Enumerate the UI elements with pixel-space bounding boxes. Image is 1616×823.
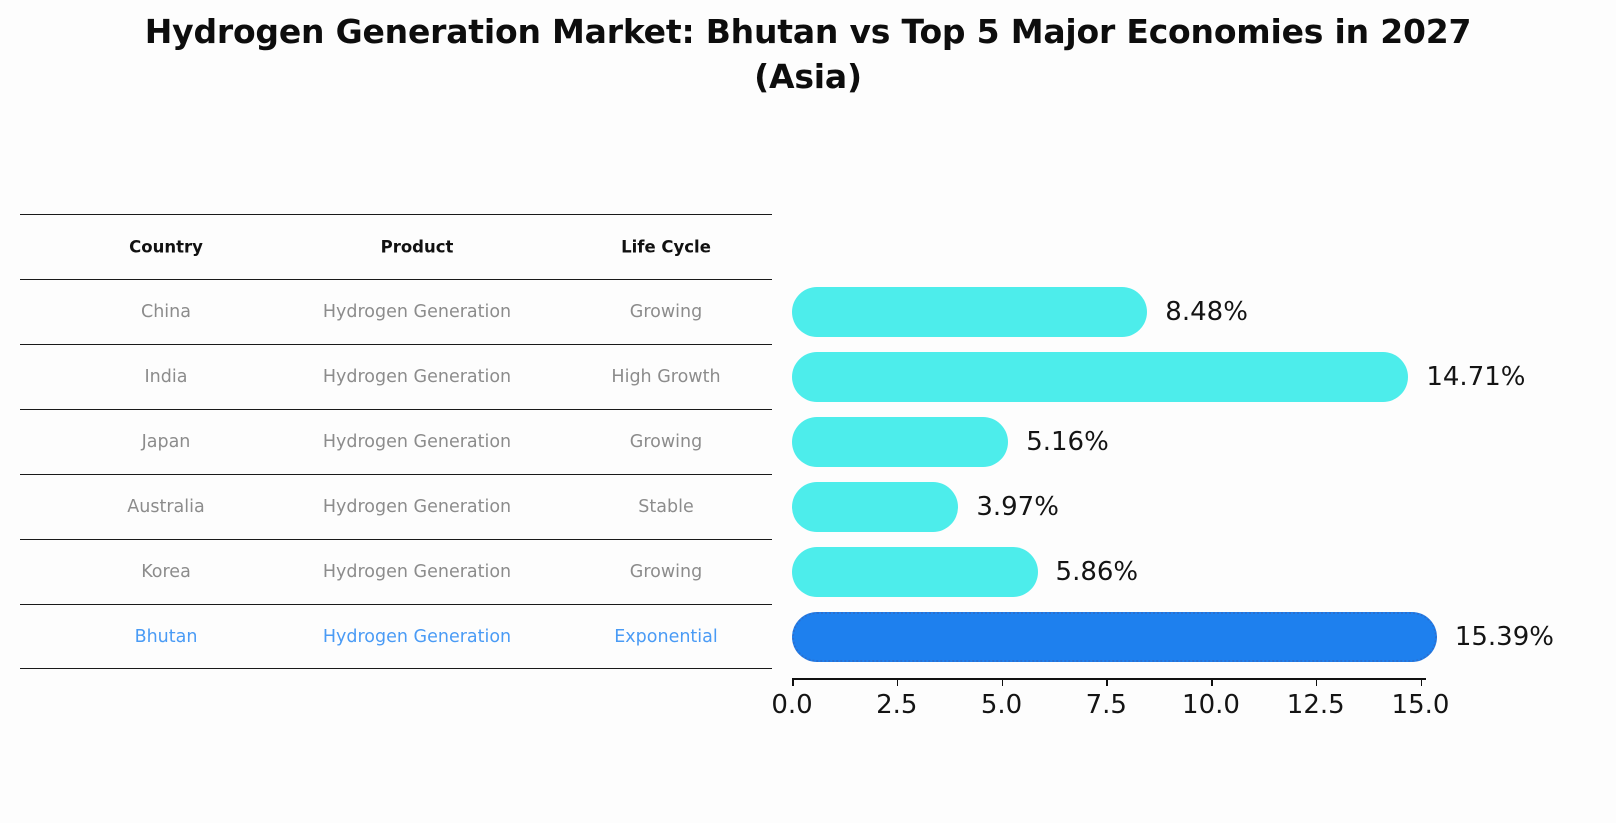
bar-value-label: 5.16% [1026,427,1109,457]
table-row[interactable]: Australia Hydrogen Generation Stable [20,474,772,539]
bar-value-label: 15.39% [1455,622,1554,652]
column-header-country: Country [129,238,203,257]
x-tick-label: 15.0 [1392,690,1450,720]
cell-country: Bhutan [135,627,198,647]
x-axis: 0.02.55.07.510.012.515.0 [792,678,1492,738]
bar-bhutan[interactable] [792,612,1437,662]
bar-value-label: 14.71% [1426,362,1525,392]
cell-life-cycle: Growing [630,562,702,582]
cell-country: Australia [127,497,204,517]
x-tick-label: 10.0 [1182,690,1240,720]
column-header-product: Product [381,238,454,257]
bar-track: 15.39% [792,604,1492,669]
column-header-life-cycle: Life Cycle [621,238,711,257]
x-tick-label: 12.5 [1287,690,1345,720]
bar-australia[interactable] [792,482,958,532]
x-tick-label: 0.0 [771,690,812,720]
cell-country: Japan [142,432,191,452]
x-tick-mark [792,678,794,686]
cell-life-cycle: Stable [638,497,693,517]
x-tick-label: 7.5 [1086,690,1127,720]
x-tick-label: 2.5 [876,690,917,720]
title-line-1: Hydrogen Generation Market: Bhutan vs To… [0,10,1616,55]
bar-track: 8.48% [792,279,1492,344]
x-tick-mark [1421,678,1423,686]
bar-value-label: 5.86% [1056,557,1139,587]
bar-value-label: 8.48% [1165,297,1248,327]
table-row-highlighted[interactable]: Bhutan Hydrogen Generation Exponential [20,604,772,669]
cell-life-cycle: High Growth [611,367,720,387]
table-row[interactable]: India Hydrogen Generation High Growth [20,344,772,409]
bar-track: 3.97% [792,474,1492,539]
bar-track: 5.86% [792,539,1492,604]
cell-product: Hydrogen Generation [323,562,511,582]
cell-life-cycle: Growing [630,432,702,452]
cell-product: Hydrogen Generation [323,302,511,322]
cell-product: Hydrogen Generation [323,627,511,647]
cell-product: Hydrogen Generation [323,432,511,452]
cell-product: Hydrogen Generation [323,497,511,517]
x-tick-mark [1106,678,1108,686]
bar-china[interactable] [792,287,1147,337]
cell-life-cycle: Growing [630,302,702,322]
bar-india[interactable] [792,352,1408,402]
table-header-row: Country Product Life Cycle [20,214,772,279]
x-tick-mark [1316,678,1318,686]
bar-japan[interactable] [792,417,1008,467]
table-row[interactable]: Japan Hydrogen Generation Growing [20,409,772,474]
x-tick-mark [1211,678,1213,686]
cell-country: Korea [141,562,191,582]
x-axis-spine [792,678,1426,680]
table-row[interactable]: Korea Hydrogen Generation Growing [20,539,772,604]
bar-korea[interactable] [792,547,1038,597]
cell-life-cycle: Exponential [614,627,718,647]
bars-layer: 8.48%14.71%5.16%3.97%5.86%15.39% [792,214,1492,678]
title-line-2: (Asia) [0,55,1616,100]
bar-track: 5.16% [792,409,1492,474]
x-tick-mark [897,678,899,686]
bar-value-label: 3.97% [976,492,1059,522]
comparison-table: Country Product Life Cycle China Hydroge… [20,214,772,669]
cell-country: India [145,367,188,387]
bar-track: 14.71% [792,344,1492,409]
cell-country: China [141,302,191,322]
table-row[interactable]: China Hydrogen Generation Growing [20,279,772,344]
page-title: Hydrogen Generation Market: Bhutan vs To… [0,10,1616,99]
cell-product: Hydrogen Generation [323,367,511,387]
x-tick-mark [1002,678,1004,686]
bar-chart: 8.48%14.71%5.16%3.97%5.86%15.39% 0.02.55… [792,214,1492,684]
x-tick-label: 5.0 [981,690,1022,720]
